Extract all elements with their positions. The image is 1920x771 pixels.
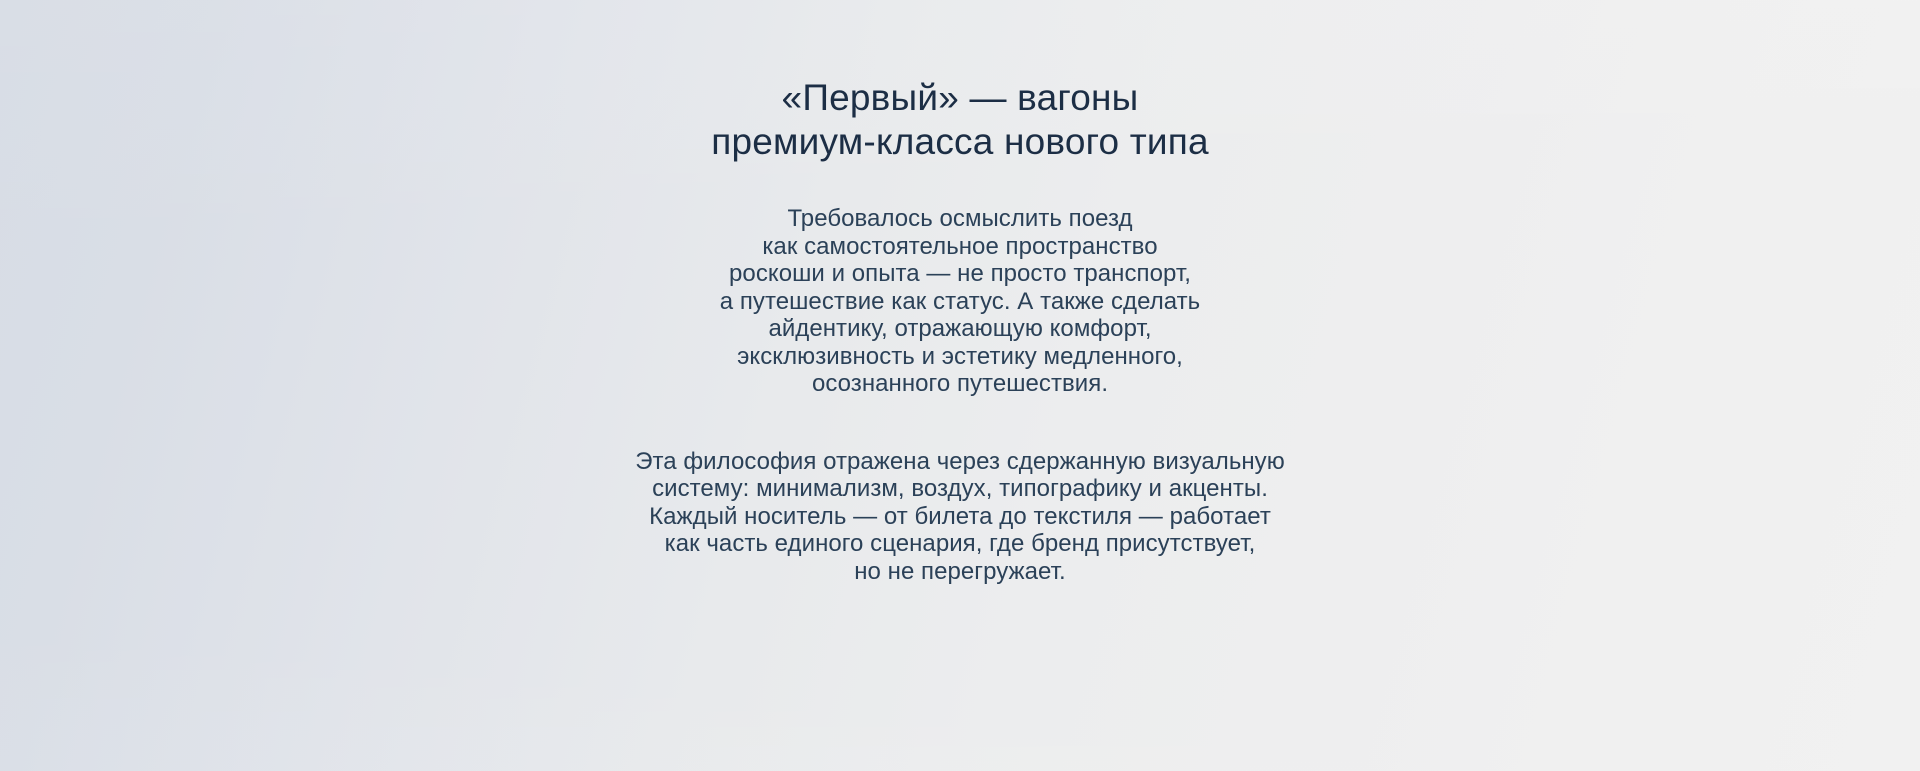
paragraph-visual-system-line-1: Эта философия отражена через сдержанную … <box>0 448 1920 476</box>
page-title-line-2: премиум-класса нового типа <box>0 120 1920 164</box>
content-column: «Первый» — вагоны премиум-класса нового … <box>0 0 1920 585</box>
paragraph-visual-system-line-3: Каждый носитель — от билета до текстиля … <box>0 503 1920 531</box>
paragraph-philosophy-line-5: айдентику, отражающую комфорт, <box>0 315 1920 343</box>
paragraph-visual-system-line-2: систему: минимализм, воздух, типографику… <box>0 475 1920 503</box>
paragraph-philosophy-line-1: Требовалось осмыслить поезд <box>0 205 1920 233</box>
page-title: «Первый» — вагоны премиум-класса нового … <box>0 0 1920 164</box>
slide-canvas: «Первый» — вагоны премиум-класса нового … <box>0 0 1920 771</box>
paragraph-philosophy-line-6: эксклюзивность и эстетику медленного, <box>0 343 1920 371</box>
paragraph-philosophy-line-7: осознанного путешествия. <box>0 370 1920 398</box>
paragraph-philosophy-line-4: а путешествие как статус. А также сделат… <box>0 288 1920 316</box>
page-title-line-1: «Первый» — вагоны <box>0 76 1920 120</box>
paragraph-visual-system: Эта философия отражена через сдержанную … <box>0 398 1920 586</box>
paragraph-philosophy: Требовалось осмыслить поезд как самостоя… <box>0 164 1920 398</box>
paragraph-visual-system-line-5: но не перегружает. <box>0 558 1920 586</box>
paragraph-philosophy-line-3: роскоши и опыта — не просто транспорт, <box>0 260 1920 288</box>
paragraph-philosophy-line-2: как самостоятельное пространство <box>0 233 1920 261</box>
paragraph-visual-system-line-4: как часть единого сценария, где бренд пр… <box>0 530 1920 558</box>
